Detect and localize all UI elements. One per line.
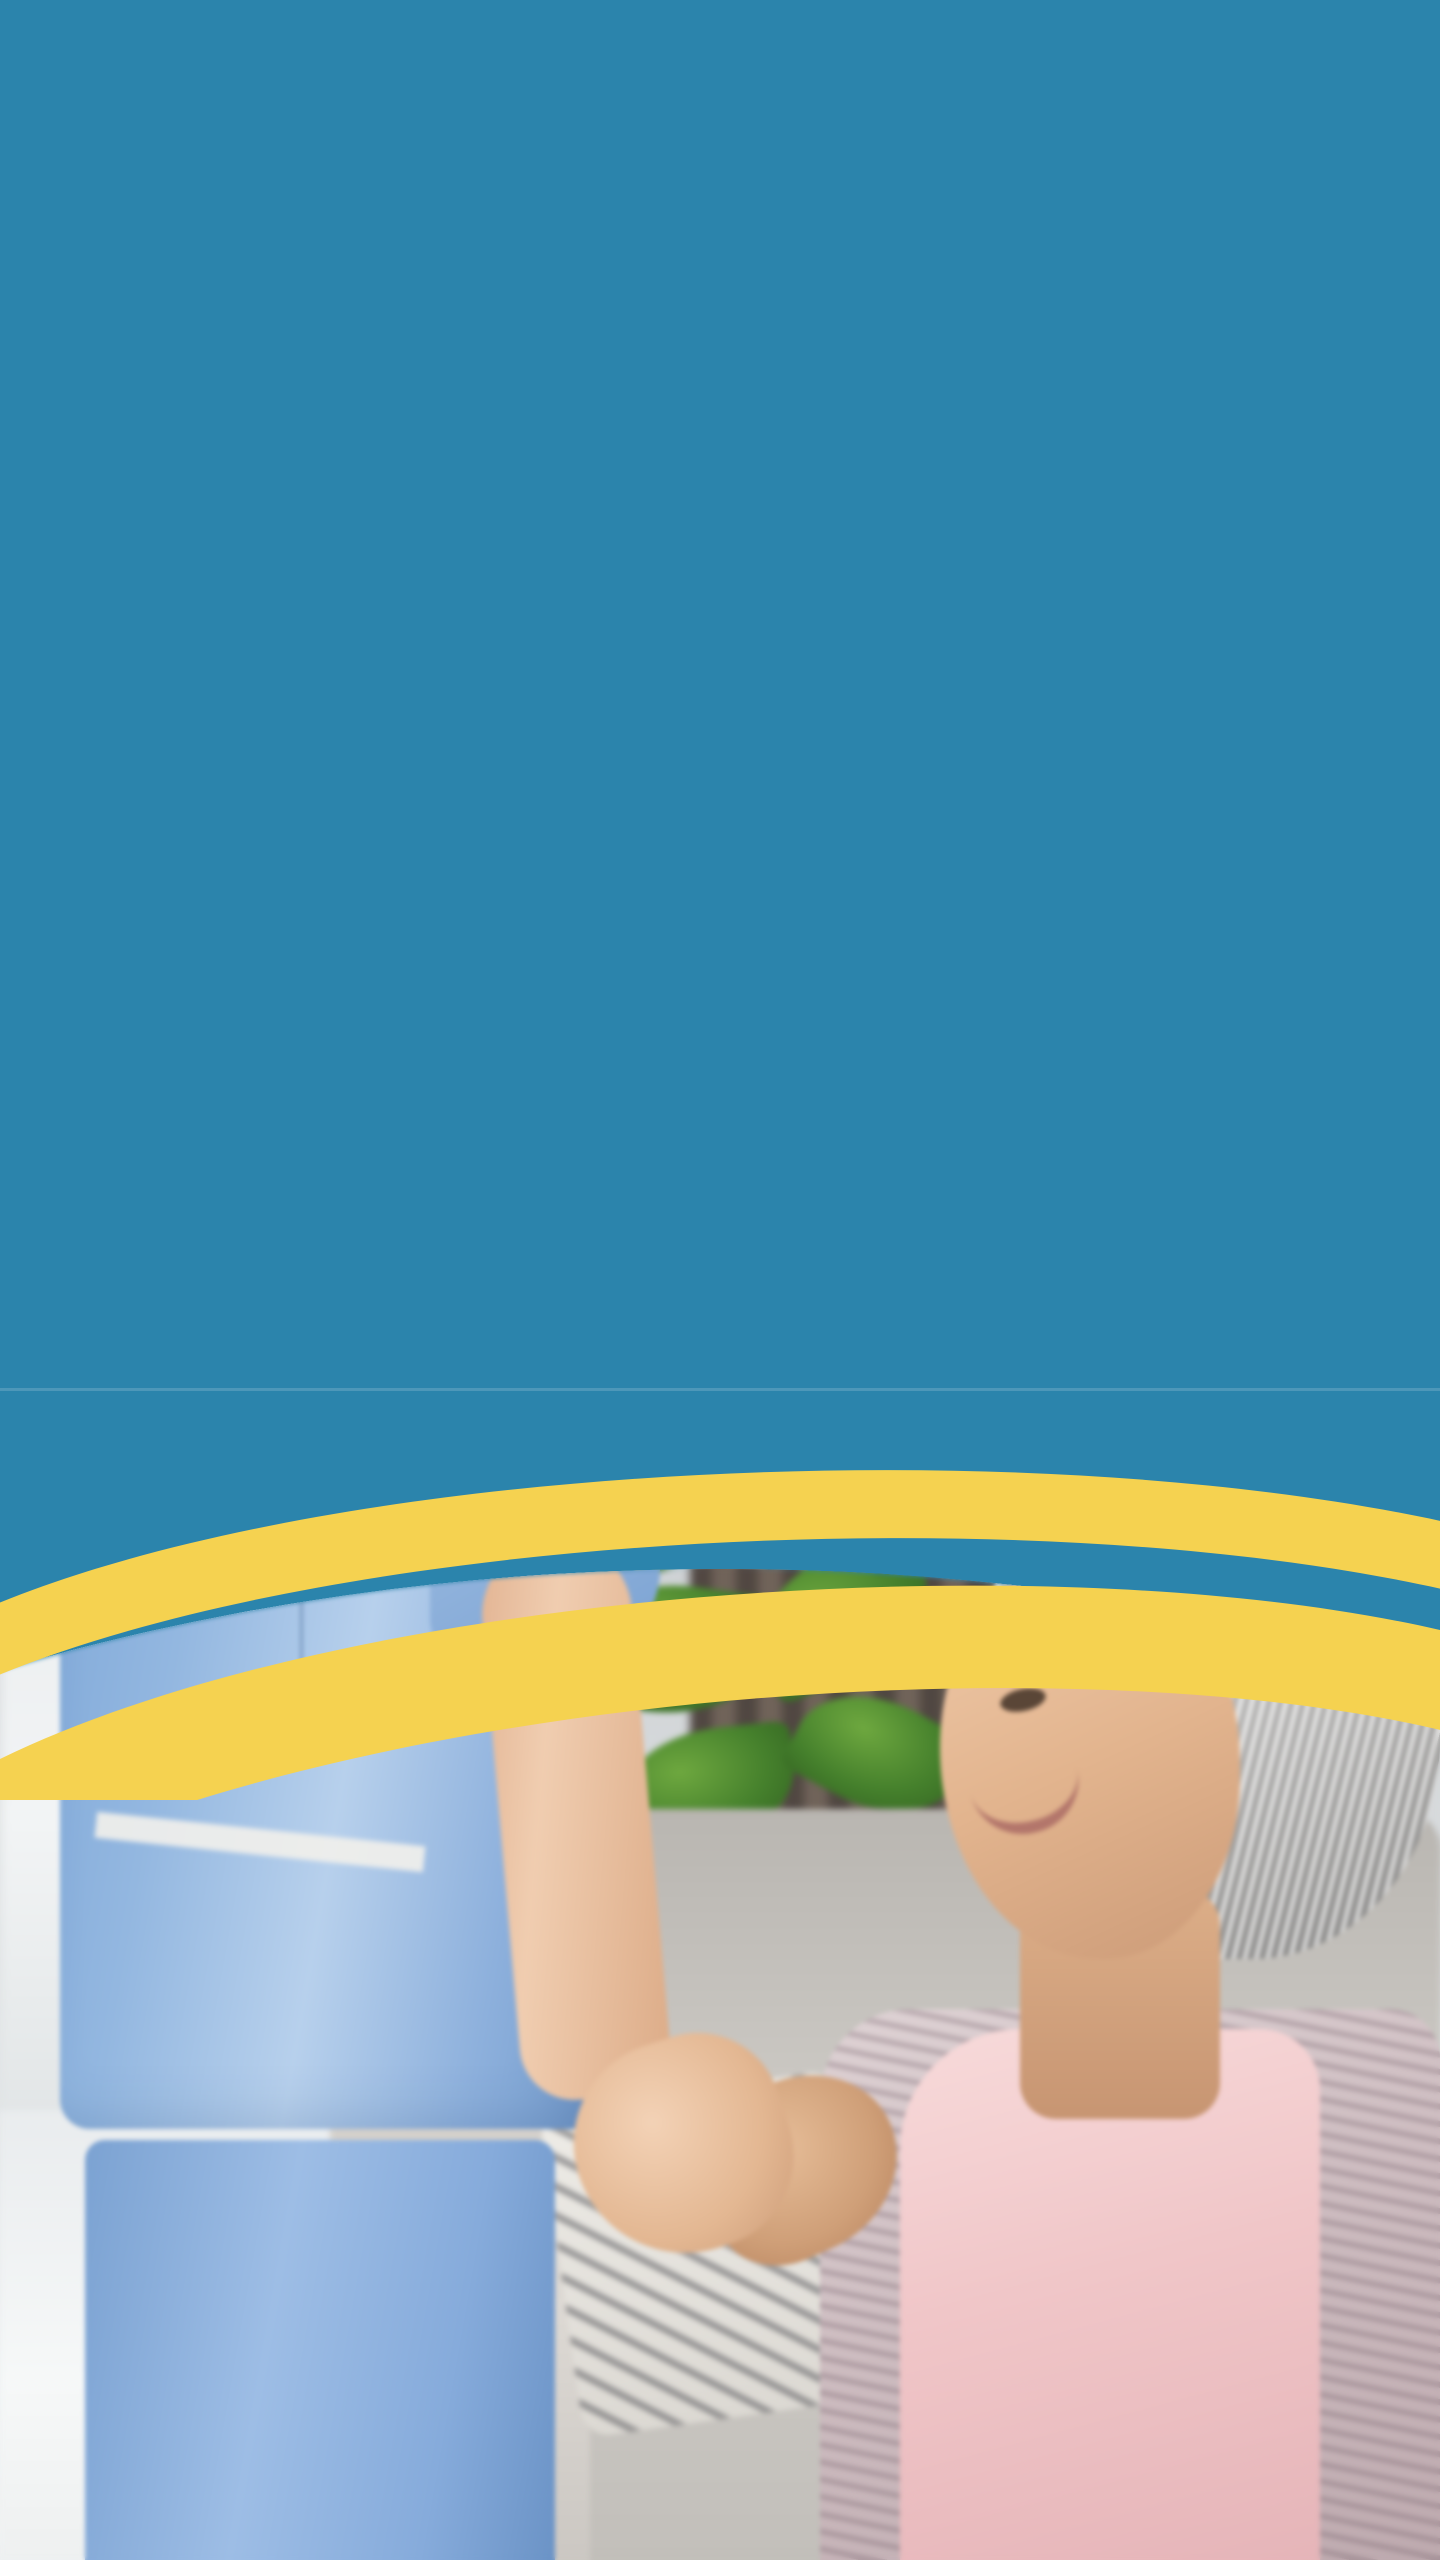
nurse-reaching-arm xyxy=(624,1389,1063,1579)
hero-text-panel xyxy=(0,0,1440,1389)
hero-photo-scene xyxy=(0,1389,1440,2560)
hero-photo-area xyxy=(0,1389,1440,2560)
panel-divider xyxy=(0,1388,1440,1391)
nurse-scrubs-pants xyxy=(85,2140,555,2560)
hero-photo-clip xyxy=(0,1389,1440,2560)
poster-canvas: BUSINESS NAME HOME CARE SERVICE Home car… xyxy=(0,0,1440,2560)
